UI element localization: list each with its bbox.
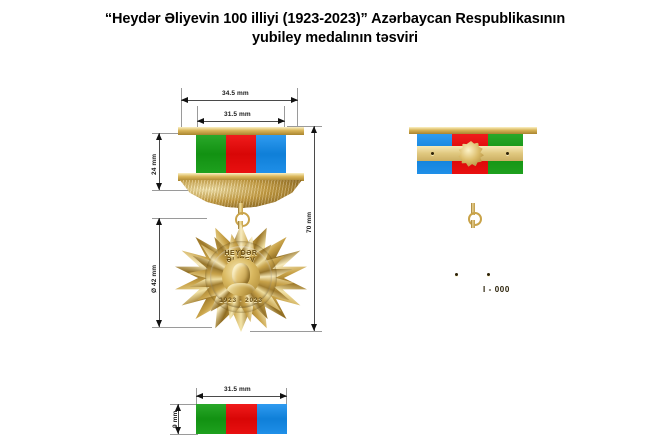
serial-number: I - 000 (483, 285, 510, 294)
dim-label-34-5: 34.5 mm (222, 90, 249, 97)
bar-dim-label-height: 9 mm (172, 411, 179, 428)
dim-arrow-34-5-left (181, 97, 188, 103)
portrait-shoulder (227, 283, 255, 296)
dim-label-70: 70 mm (306, 212, 313, 233)
bar-dim-arrow-down (175, 427, 181, 434)
reverse-star-plate (404, 222, 544, 334)
dim-arrow-31-5-right (278, 118, 285, 124)
ribbon-bar (196, 404, 287, 434)
reverse-screw-left (431, 152, 434, 155)
ribbon-stripe-green (196, 135, 226, 173)
obverse-star: HEYDƏR ƏLİYEV 1923 - 2023 (175, 224, 307, 332)
dim-arrow-70-top (311, 126, 317, 133)
medallion-disc-inner: HEYDƏR ƏLİYEV 1923 - 2023 (210, 246, 272, 308)
obverse-ribbon (196, 135, 286, 173)
reverse-rivet-left (455, 273, 458, 276)
medallion-date-text: 1923 - 2023 (210, 297, 272, 304)
bar-dim-arrow-left (196, 393, 203, 399)
dim-arrow-42-bottom (156, 320, 162, 327)
reverse-screw-right (506, 152, 509, 155)
medallion-disc: HEYDƏR ƏLİYEV 1923 - 2023 (205, 241, 277, 313)
dim-arrow-24-bottom (156, 183, 162, 190)
obverse-ribbon-frame-top (178, 127, 304, 135)
dim-line-24 (159, 133, 160, 190)
dim-label-42: Ø 42 mm (151, 265, 158, 293)
bar-dim-line-width (196, 396, 287, 397)
dim-label-24: 24 mm (151, 154, 158, 175)
ribbon-stripe-red (226, 135, 256, 173)
bar-dim-arrow-right (280, 393, 287, 399)
dim-arrow-70-bottom (311, 324, 317, 331)
dim-line-31-5 (197, 121, 285, 122)
dim-label-31-5: 31.5 mm (224, 111, 251, 118)
dim-line-70 (314, 126, 315, 331)
bar-stripe-red (226, 404, 256, 434)
dim-arrow-24-top (156, 133, 162, 140)
obverse-ribbon-frame-bottom (178, 173, 304, 181)
dim-arrow-34-5-right (291, 97, 298, 103)
dim-arrow-42-top (156, 218, 162, 225)
bar-ext-bottom (170, 434, 198, 435)
heydar-aliyev-portrait (222, 258, 260, 296)
page-title: “Heydər Əliyevin 100 illiyi (1923-2023)”… (0, 10, 670, 48)
ribbon-stripe-blue (256, 135, 286, 173)
reverse-ribbon-frame-top (409, 127, 537, 134)
bar-stripe-blue (257, 404, 287, 434)
reverse-rosette-core (466, 149, 476, 159)
dim-line-34-5 (181, 100, 298, 101)
reverse-rivet-right (487, 273, 490, 276)
page-title-line-2: yubiley medalının təsviri (0, 29, 670, 48)
bar-dim-label-width: 31.5 mm (224, 386, 251, 393)
bar-stripe-green (196, 404, 226, 434)
page-title-line-1: “Heydər Əliyevin 100 illiyi (1923-2023)”… (0, 10, 670, 29)
dim-line-42 (159, 218, 160, 327)
dim-arrow-31-5-left (197, 118, 204, 124)
